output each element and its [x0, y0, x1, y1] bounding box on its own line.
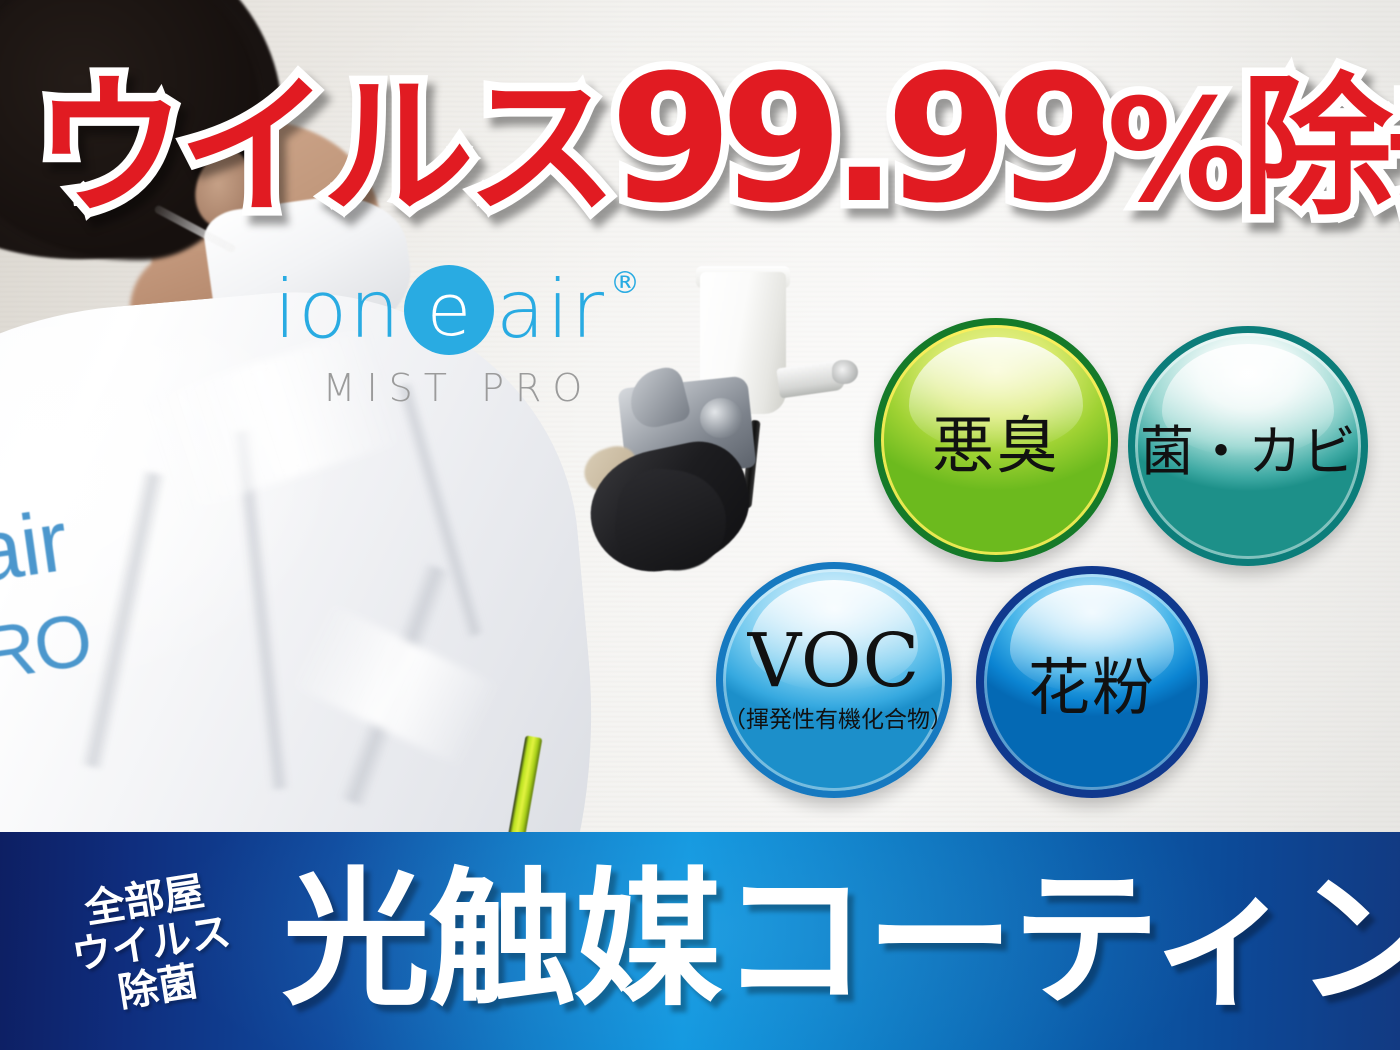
headline-prefix: ウイルス — [34, 59, 610, 236]
suit-print-air: air — [0, 492, 73, 603]
suit-print-ro: RO — [0, 597, 96, 696]
bubble-label: 花粉 — [1028, 637, 1156, 727]
feature-bubble-mold[interactable]: 菌・カビ — [1128, 326, 1368, 566]
logo-text-air: air — [496, 270, 606, 350]
bubble-sublabel: （揮発性有機化合物） — [723, 700, 945, 734]
feature-bubble-pollen[interactable]: 花粉 — [976, 566, 1208, 798]
feature-bubble-odor[interactable]: 悪臭 — [874, 318, 1118, 562]
logo-wordmark: ion e air ® — [274, 262, 694, 358]
registered-trademark-icon: ® — [610, 266, 640, 301]
headline-number: 99.99 — [610, 37, 1107, 242]
bubble-label: 菌・カビ — [1140, 407, 1356, 486]
spray-gun-knob — [700, 398, 742, 438]
bubble-label: VOC — [748, 626, 920, 696]
headline-percent: % — [1107, 69, 1241, 234]
logo-e-circle-icon: e — [404, 265, 494, 355]
bottom-banner: 全部屋 ウイルス 除菌 光触媒コーティング — [0, 832, 1400, 1050]
spray-gun-nozzle-tip — [832, 360, 858, 384]
banner-badge: 全部屋 ウイルス 除菌 — [42, 863, 261, 1033]
feature-bubble-voc[interactable]: VOC （揮発性有機化合物） — [716, 562, 952, 798]
logo-text-ion: ion — [274, 270, 402, 350]
banner-title: 光触媒コーティング — [282, 854, 1400, 1026]
headline-suffix: 除去! — [1241, 59, 1400, 236]
advertisement-banner: air RO ion e air ® MIST PRO ウイルス99.99%除去… — [0, 0, 1400, 1050]
bubble-label: 悪臭 — [932, 395, 1060, 485]
product-logo: ion e air ® MIST PRO — [274, 262, 694, 412]
headline: ウイルス99.99%除去! — [34, 56, 1394, 236]
logo-subtitle: MIST PRO — [274, 366, 642, 410]
